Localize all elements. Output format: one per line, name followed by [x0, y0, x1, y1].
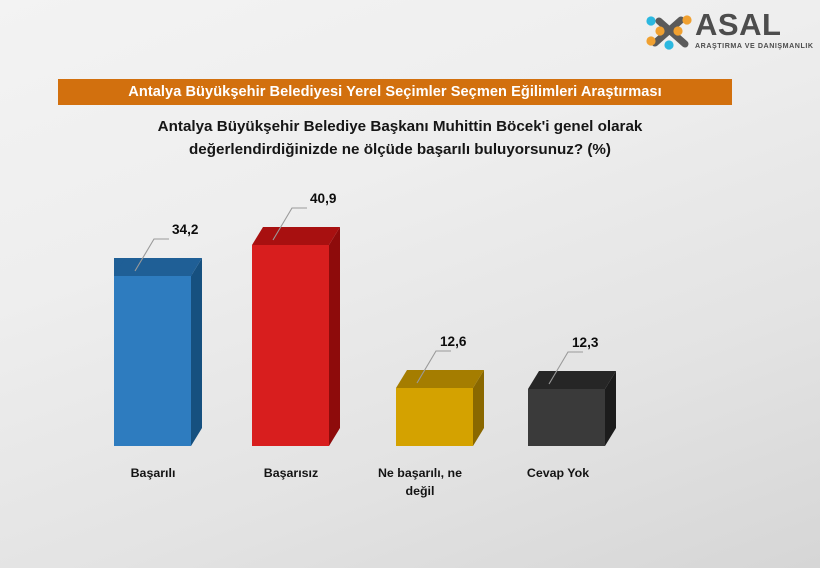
bar-2-value-label: 12,6 [440, 334, 466, 349]
bar-3-category-line-1: Cevap Yok [494, 464, 622, 482]
bar-0-leader-line [132, 227, 177, 279]
bar-0-value-label: 34,2 [172, 222, 198, 237]
bar-1-side-face [329, 227, 341, 447]
bar-1[interactable] [252, 227, 340, 446]
bar-3-value-label: 12,3 [572, 335, 598, 350]
slide-root: ASAL ARAŞTIRMA VE DANIŞMANLIK Antalya Bü… [0, 0, 820, 568]
bar-0-side-face [191, 258, 203, 447]
bar-0-front-face [114, 276, 191, 446]
bar-1-front-face [252, 245, 329, 446]
bar-3-category-label: Cevap Yok [494, 464, 622, 482]
bar-1-leader-line [270, 196, 315, 248]
bar-chart-plot-area: 34,2 Başarılı 40,9 Başarısız [0, 0, 820, 568]
bar-1-value-label: 40,9 [310, 191, 336, 206]
bar-0[interactable] [114, 258, 202, 446]
bar-2-front-face [396, 388, 473, 446]
bar-3-front-face [528, 389, 605, 446]
